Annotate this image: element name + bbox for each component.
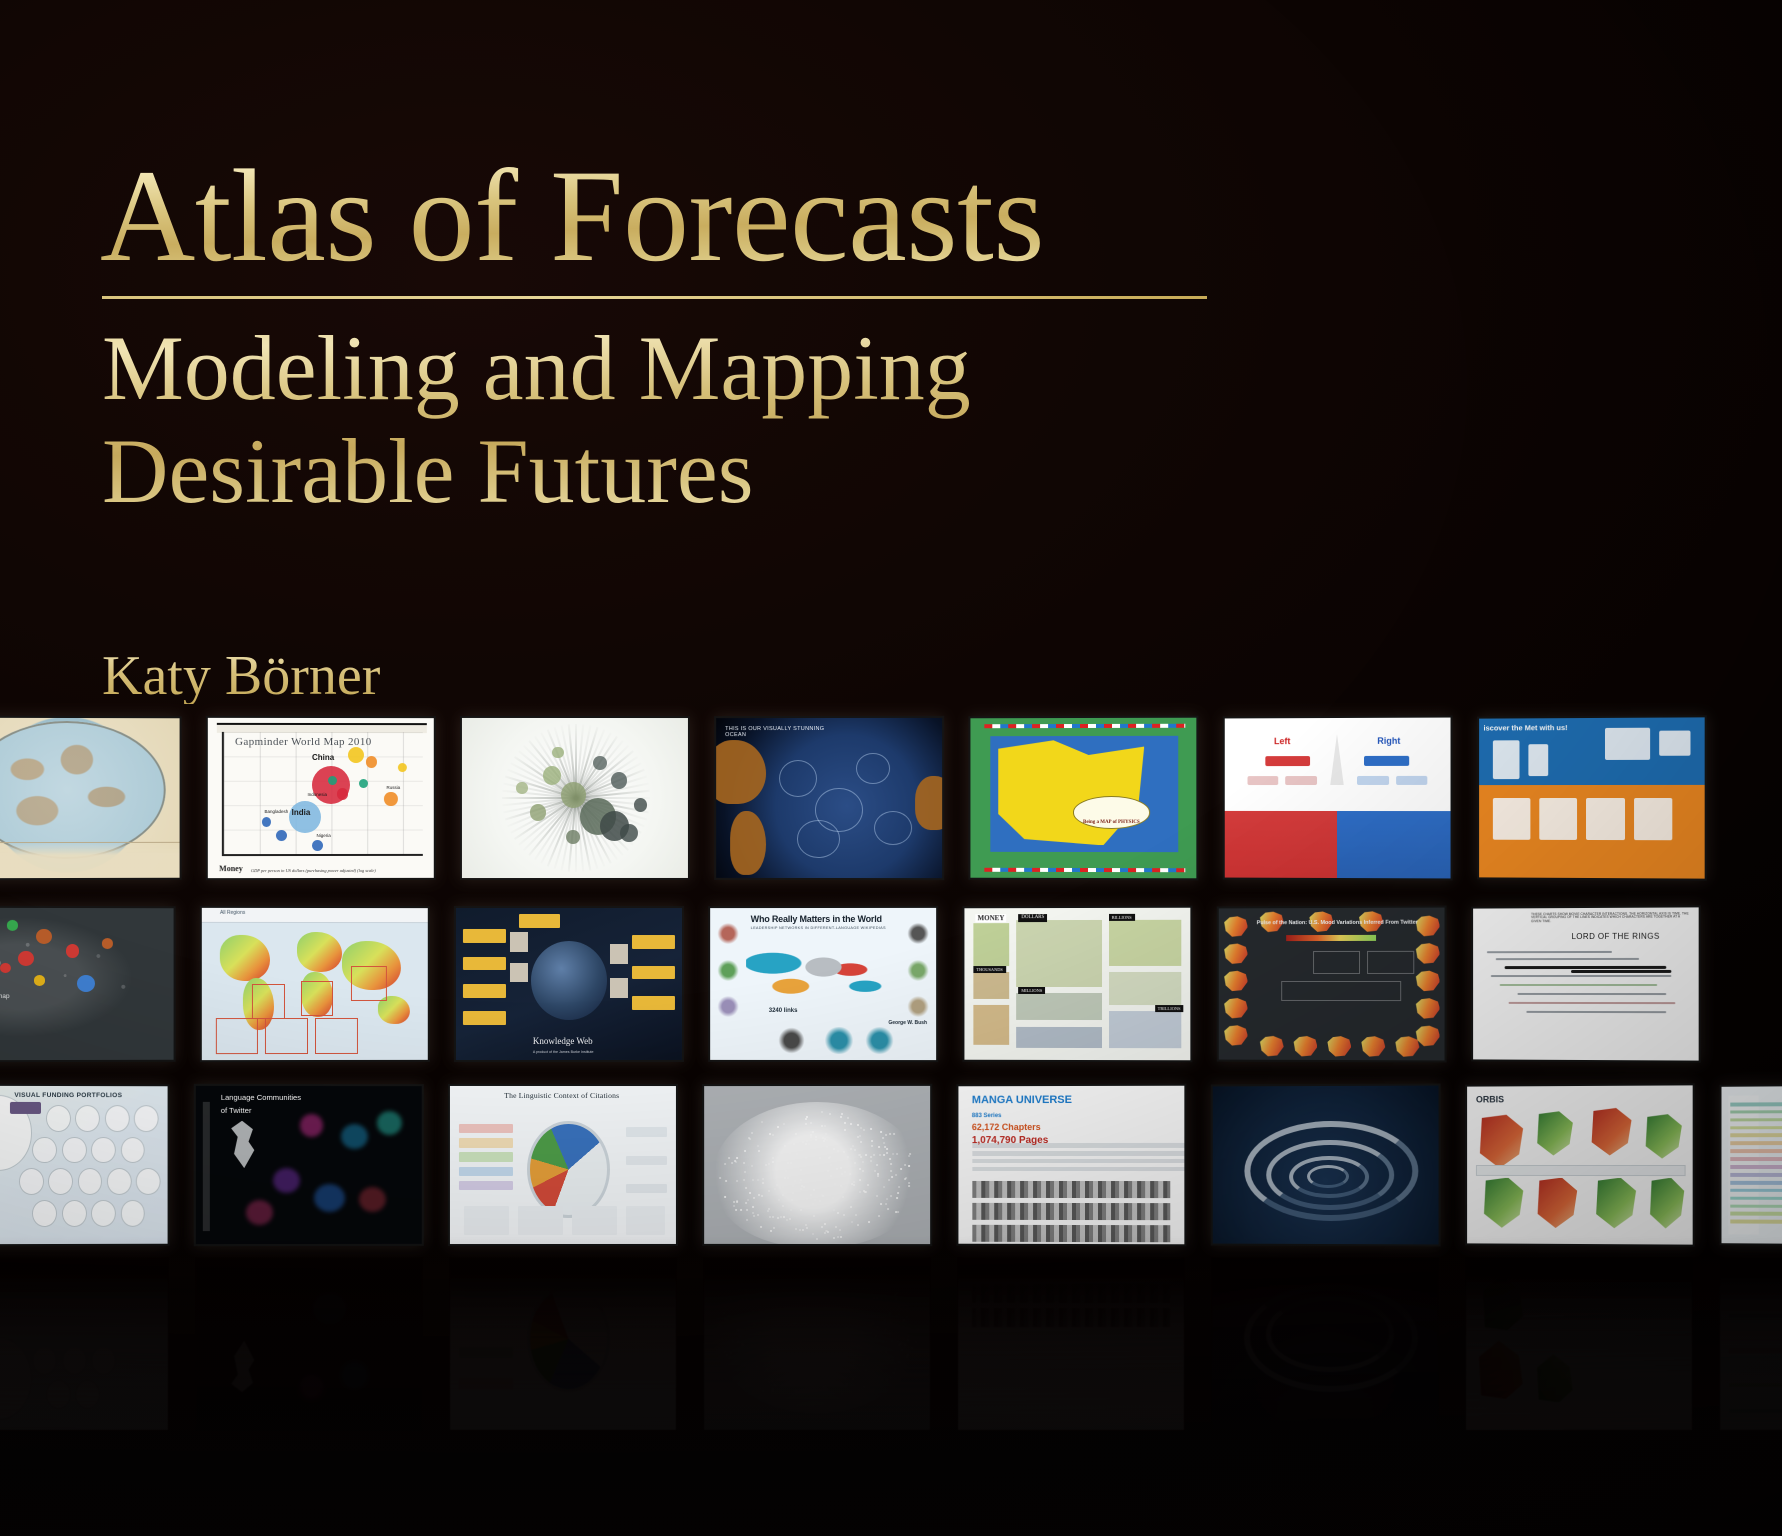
point-cloud-dot (787, 1177, 789, 1179)
thumbnail-language-communities-twitter[interactable]: Language Communities of Twitter (196, 1086, 422, 1258)
point-cloud-dot (846, 1282, 848, 1284)
point-cloud-dot (818, 1311, 820, 1313)
point-cloud-dot (827, 1341, 829, 1343)
point-cloud-dot (770, 1324, 772, 1326)
point-cloud-dot (757, 1145, 759, 1147)
point-cloud-dot (876, 1164, 878, 1166)
point-cloud-dot (809, 1338, 811, 1340)
point-cloud-dot (896, 1197, 898, 1199)
point-cloud-dot (844, 1129, 846, 1131)
thumbnail-radial-hierarchy[interactable] (462, 718, 688, 896)
point-cloud-dot (735, 1360, 737, 1362)
point-cloud-dot (751, 1344, 753, 1346)
point-cloud-dot (724, 1351, 726, 1353)
thumbnail-money-flow[interactable]: MONEY DOLLARS THOUSANDS MILLIONS BILLION… (964, 908, 1190, 1076)
point-cloud-dot (732, 1340, 734, 1342)
point-cloud-dot (849, 1312, 851, 1314)
point-cloud-dot (796, 1153, 798, 1155)
point-cloud-dot (829, 1268, 831, 1270)
point-cloud-dot (883, 1280, 885, 1282)
point-cloud-dot (903, 1319, 905, 1321)
point-cloud-dot (897, 1341, 899, 1343)
point-cloud-dot (825, 1133, 827, 1135)
point-cloud-dot (831, 1270, 833, 1272)
point-cloud-dot (753, 1301, 755, 1303)
thumbnail-manga-universe[interactable]: MANGA UNIVERSE 883 Series 62,172 Chapter… (958, 1086, 1184, 1258)
point-cloud-dot (734, 1160, 736, 1162)
floor-vignette (0, 1236, 1782, 1536)
point-cloud-dot (806, 1198, 808, 1200)
book-cover: Atlas of Forecasts Modeling and Mapping … (0, 0, 1782, 1536)
point-cloud-dot (770, 1230, 772, 1232)
point-cloud-dot (886, 1198, 888, 1200)
point-cloud-dot (870, 1128, 872, 1130)
point-cloud-dot (895, 1174, 897, 1176)
point-cloud-dot (847, 1156, 849, 1158)
point-cloud-dot (746, 1293, 748, 1295)
title-block: Atlas of Forecasts Modeling and Mapping … (96, 150, 1336, 523)
point-cloud-dot (897, 1309, 899, 1311)
ocean-caption: THIS IS OUR VISUALLY STUNNING OCEAN (725, 726, 824, 739)
point-cloud-dot (847, 1369, 849, 1371)
point-cloud-dot (877, 1380, 879, 1382)
point-cloud-dot (769, 1375, 771, 1377)
point-cloud-dot (890, 1170, 892, 1172)
point-cloud-dot (739, 1300, 741, 1302)
point-cloud-dot (880, 1287, 882, 1289)
point-cloud-dot (888, 1357, 890, 1359)
point-cloud-dot (824, 1124, 826, 1126)
point-cloud-dot (757, 1179, 759, 1181)
point-cloud-dot (852, 1378, 854, 1380)
point-cloud-dot (776, 1184, 778, 1186)
linguistic-context-caption: The Linguistic Context of Citations (504, 1092, 619, 1101)
point-cloud-dot (818, 1384, 820, 1386)
point-cloud-dot (859, 1179, 861, 1181)
point-cloud-dot (892, 1359, 894, 1361)
point-cloud-dot (760, 1311, 762, 1313)
point-cloud-dot (799, 1229, 801, 1231)
point-cloud-dot (802, 1277, 804, 1279)
thumbnail-citation-matrix[interactable] (1720, 1086, 1782, 1258)
point-cloud-dot (766, 1369, 768, 1371)
point-cloud-dot (774, 1384, 776, 1386)
point-cloud-dot (758, 1194, 760, 1196)
point-cloud-dot (790, 1162, 792, 1164)
point-cloud-dot (733, 1201, 735, 1203)
point-cloud-dot (861, 1388, 863, 1390)
point-cloud-dot (825, 1306, 827, 1308)
book-title: Atlas of Forecasts (96, 150, 1336, 294)
point-cloud-dot (832, 1197, 834, 1199)
point-cloud-dot (823, 1293, 825, 1295)
point-cloud-dot (745, 1202, 747, 1204)
point-cloud-dot (825, 1230, 827, 1232)
point-cloud-dot (852, 1297, 854, 1299)
point-cloud-dot (783, 1216, 785, 1218)
point-cloud-dot (726, 1319, 728, 1321)
reflection (196, 1258, 422, 1430)
orbis-caption: ORBIS (1476, 1094, 1504, 1104)
point-cloud-dot (762, 1178, 764, 1180)
point-cloud-dot (730, 1352, 732, 1354)
point-cloud-dot (795, 1133, 797, 1135)
point-cloud-dot (725, 1310, 727, 1312)
point-cloud-dot (866, 1358, 868, 1360)
thumbnail-historical-world-map[interactable] (0, 718, 180, 896)
point-cloud-dot (900, 1168, 902, 1170)
point-cloud-dot (733, 1360, 735, 1362)
point-cloud-dot (794, 1322, 796, 1324)
point-cloud-dot (765, 1164, 767, 1166)
point-cloud-dot (846, 1383, 848, 1385)
point-cloud-dot (831, 1305, 833, 1307)
point-cloud-dot (838, 1283, 840, 1285)
point-cloud-dot (884, 1319, 886, 1321)
point-cloud-dot (899, 1343, 901, 1345)
reflection (1720, 1258, 1782, 1430)
point-cloud-dot (778, 1199, 780, 1201)
point-cloud-dot (859, 1135, 861, 1137)
point-cloud-dot (867, 1184, 869, 1186)
gapminder-axis-sublabel: GDP per person in US dollars (purchasing… (251, 867, 376, 872)
point-cloud-dot (826, 1146, 828, 1148)
point-cloud-dot (765, 1273, 767, 1275)
point-cloud-dot (737, 1341, 739, 1343)
point-cloud-dot (776, 1311, 778, 1313)
point-cloud-dot (870, 1156, 872, 1158)
point-cloud-dot (789, 1278, 791, 1280)
point-cloud-dot (833, 1148, 835, 1150)
point-cloud-dot (845, 1284, 847, 1286)
point-cloud-dot (870, 1331, 872, 1333)
radial-node (634, 798, 648, 812)
point-cloud-dot (800, 1188, 802, 1190)
point-cloud-dot (827, 1346, 829, 1348)
point-cloud-dot (833, 1237, 835, 1239)
point-cloud-dot (843, 1151, 845, 1153)
point-cloud-dot (841, 1305, 843, 1307)
thumbnail-gapminder-world-map[interactable]: Gapminder World Map 2010 China India Ind… (208, 718, 434, 896)
point-cloud-dot (761, 1195, 763, 1197)
point-cloud-dot (868, 1324, 870, 1326)
point-cloud-dot (761, 1291, 763, 1293)
author-name: Katy Börner (102, 648, 380, 704)
subtitle-line-1: Modeling and Mapping (102, 317, 1336, 420)
point-cloud-dot (818, 1367, 820, 1369)
point-cloud-dot (759, 1150, 761, 1152)
point-cloud-dot (850, 1318, 852, 1320)
thumbnail-spiral-city-model[interactable] (1212, 1086, 1438, 1258)
point-cloud-dot (826, 1388, 828, 1390)
point-cloud-dot (792, 1185, 794, 1187)
point-cloud-dot (790, 1324, 792, 1326)
point-cloud-dot (906, 1356, 908, 1358)
point-cloud-dot (909, 1153, 911, 1155)
radial-node (530, 804, 546, 820)
point-cloud-dot (751, 1132, 753, 1134)
point-cloud-dot (771, 1390, 773, 1392)
point-cloud-dot (784, 1301, 786, 1303)
point-cloud-dot (782, 1205, 784, 1207)
point-cloud-dot (834, 1183, 836, 1185)
thumbnail-visual-funding-portfolios[interactable]: VISUAL FUNDING PORTFOLIOS (0, 1086, 168, 1258)
point-cloud-dot (801, 1367, 803, 1369)
point-cloud-dot (904, 1164, 906, 1166)
radial-node (543, 766, 561, 785)
point-cloud-dot (885, 1351, 887, 1353)
point-cloud-dot (732, 1363, 734, 1365)
thumbnail-who-really-matters[interactable]: Who Really Matters in the World LEADERSH… (710, 908, 936, 1076)
who-really-matters-subtitle: LEADERSHIP NETWORKS IN DIFFERENT-LANGUAG… (751, 926, 886, 930)
point-cloud-dot (891, 1340, 893, 1342)
point-cloud-dot (804, 1308, 806, 1310)
point-cloud-dot (849, 1346, 851, 1348)
point-cloud-dot (737, 1329, 739, 1331)
point-cloud-dot (806, 1372, 808, 1374)
thumbnail-knowledge-web[interactable]: Knowledge Web A product of the James Bur… (456, 908, 682, 1076)
point-cloud-dot (907, 1335, 909, 1337)
point-cloud-dot (846, 1283, 848, 1285)
point-cloud-dot (737, 1157, 739, 1159)
point-cloud-dot (857, 1124, 859, 1126)
point-cloud-dot (767, 1210, 769, 1212)
point-cloud-dot (911, 1347, 913, 1349)
point-cloud-dot (856, 1267, 858, 1269)
point-cloud-dot (842, 1196, 844, 1198)
point-cloud-dot (823, 1322, 825, 1324)
point-cloud-dot (856, 1315, 858, 1317)
point-cloud-dot (770, 1345, 772, 1347)
knowledge-web-subcaption: A product of the James Burke Institute (533, 1050, 594, 1054)
point-cloud-dot (845, 1278, 847, 1280)
radial-node (593, 756, 607, 770)
point-cloud-dot (765, 1331, 767, 1333)
point-cloud-dot (747, 1199, 749, 1201)
point-cloud-dot (742, 1299, 744, 1301)
point-cloud-dot (907, 1339, 909, 1341)
point-cloud-dot (896, 1292, 898, 1294)
reflection (1466, 1258, 1692, 1430)
point-cloud-dot (825, 1354, 827, 1356)
lotr-title: LORD OF THE RINGS (1571, 932, 1659, 941)
point-cloud-dot (808, 1143, 810, 1145)
point-cloud-dot (772, 1216, 774, 1218)
point-cloud-dot (851, 1221, 853, 1223)
point-cloud-dot (817, 1308, 819, 1310)
point-cloud-dot (872, 1323, 874, 1325)
thumbnail-global-population-heatmap[interactable]: All Regions (202, 908, 428, 1076)
point-cloud-dot (873, 1154, 875, 1156)
point-cloud-dot (803, 1338, 805, 1340)
point-cloud-dot (883, 1154, 885, 1156)
point-cloud-dot (735, 1209, 737, 1211)
point-cloud-dot (815, 1136, 817, 1138)
point-cloud-dot (751, 1340, 753, 1342)
point-cloud-dot (777, 1217, 779, 1219)
point-cloud-dot (762, 1313, 764, 1315)
manga-title: MANGA UNIVERSE (972, 1094, 1072, 1107)
point-cloud-dot (759, 1344, 761, 1346)
point-cloud-dot (886, 1148, 888, 1150)
point-cloud-dot (786, 1289, 788, 1291)
radial-node (566, 830, 580, 844)
point-cloud-dot (885, 1359, 887, 1361)
point-cloud-dot (880, 1350, 882, 1352)
point-cloud-dot (844, 1316, 846, 1318)
point-cloud-dot (865, 1325, 867, 1327)
point-cloud-dot (743, 1179, 745, 1181)
thumbnail-map-of-physics[interactable]: Being a MAP of PHYSICS (970, 718, 1196, 896)
point-cloud-dot (730, 1298, 732, 1300)
reflection (958, 1258, 1184, 1430)
reflection (704, 1258, 930, 1430)
who-really-matters-person: George W. Bush (888, 1021, 927, 1027)
point-cloud-dot (819, 1157, 821, 1159)
point-cloud-dot (861, 1331, 863, 1333)
point-cloud-dot (810, 1131, 812, 1133)
thumbnail-patent-basemap[interactable]: Patent Basemap (0, 908, 174, 1076)
point-cloud-dot (863, 1386, 865, 1388)
point-cloud-dot (889, 1312, 891, 1314)
point-cloud-dot (826, 1139, 828, 1141)
point-cloud-dot (888, 1179, 890, 1181)
point-cloud-dot (849, 1317, 851, 1319)
point-cloud-dot (805, 1123, 807, 1125)
point-cloud-dot (898, 1305, 900, 1307)
point-cloud-dot (758, 1375, 760, 1377)
point-cloud-dot (805, 1118, 807, 1120)
point-cloud-dot (827, 1231, 829, 1233)
point-cloud-dot (883, 1142, 885, 1144)
point-cloud-dot (753, 1197, 755, 1199)
point-cloud-dot (895, 1298, 897, 1300)
point-cloud-dot (876, 1297, 878, 1299)
point-cloud-dot (873, 1388, 875, 1390)
point-cloud-dot (751, 1165, 753, 1167)
thumbnail-linguistic-context-citations[interactable]: The Linguistic Context of Citations (450, 1086, 676, 1258)
point-cloud-dot (772, 1390, 774, 1392)
point-cloud-dot (886, 1379, 888, 1381)
point-cloud-dot (772, 1134, 774, 1136)
thumbnail-point-cloud-sphere[interactable] (704, 1086, 930, 1258)
point-cloud-dot (789, 1217, 791, 1219)
point-cloud-dot (792, 1325, 794, 1327)
point-cloud-dot (821, 1226, 823, 1228)
funding-portfolios-caption: VISUAL FUNDING PORTFOLIOS (14, 1092, 122, 1100)
point-cloud-dot (783, 1266, 785, 1268)
point-cloud-dot (885, 1203, 887, 1205)
point-cloud-dot (833, 1305, 835, 1307)
point-cloud-dot (813, 1215, 815, 1217)
point-cloud-dot (804, 1272, 806, 1274)
point-cloud-dot (833, 1278, 835, 1280)
visualization-gallery: Gapminder World Map 2010 China India Ind… (0, 718, 1782, 1536)
point-cloud-dot (829, 1113, 831, 1115)
point-cloud-dot (766, 1292, 768, 1294)
point-cloud-dot (791, 1199, 793, 1201)
thumbnail-discover-the-met[interactable]: iscover the Met with us! (1478, 718, 1704, 896)
point-cloud-dot (812, 1233, 814, 1235)
point-cloud-dot (783, 1272, 785, 1274)
point-cloud-dot (894, 1293, 896, 1295)
point-cloud-dot (805, 1157, 807, 1159)
point-cloud-dot (868, 1371, 870, 1373)
point-cloud-dot (743, 1162, 745, 1164)
point-cloud-dot (782, 1186, 784, 1188)
point-cloud-dot (863, 1281, 865, 1283)
point-cloud-dot (744, 1171, 746, 1173)
point-cloud-dot (820, 1292, 822, 1294)
point-cloud-dot (749, 1192, 751, 1194)
point-cloud-dot (894, 1368, 896, 1370)
point-cloud-dot (806, 1227, 808, 1229)
point-cloud-dot (898, 1186, 900, 1188)
point-cloud-dot (862, 1170, 864, 1172)
point-cloud-dot (889, 1333, 891, 1335)
point-cloud-dot (857, 1324, 859, 1326)
point-cloud-dot (810, 1194, 812, 1196)
point-cloud-dot (837, 1264, 839, 1266)
point-cloud-dot (881, 1379, 883, 1381)
point-cloud-dot (773, 1227, 775, 1229)
thumbnail-left-right-politics[interactable]: Left Right (1224, 718, 1450, 896)
point-cloud-dot (783, 1123, 785, 1125)
point-cloud-dot (726, 1354, 728, 1356)
thumbnail-pulse-of-the-nation[interactable]: Pulse of the Nation: U.S. Mood Variation… (1218, 908, 1444, 1076)
gallery-row-2: Patent Basemap (0, 908, 1730, 1076)
point-cloud-dot (837, 1284, 839, 1286)
point-cloud-dot (759, 1290, 761, 1292)
point-cloud-dot (860, 1156, 862, 1158)
point-cloud-dot (887, 1208, 889, 1210)
point-cloud-dot (770, 1290, 772, 1292)
point-cloud-dot (844, 1386, 846, 1388)
thumbnail-orbis-choropleth[interactable]: ORBIS (1466, 1086, 1692, 1258)
point-cloud-dot (853, 1181, 855, 1183)
point-cloud-dot (823, 1140, 825, 1142)
point-cloud-dot (839, 1369, 841, 1371)
thumbnail-movie-narrative-charts[interactable]: THESE CHARTS SHOW MOVIE CHARACTER INTERA… (1472, 908, 1698, 1076)
point-cloud-dot (795, 1390, 797, 1392)
point-cloud-dot (769, 1216, 771, 1218)
point-cloud-dot (870, 1348, 872, 1350)
point-cloud-dot (785, 1348, 787, 1350)
point-cloud-dot (833, 1209, 835, 1211)
point-cloud-dot (746, 1209, 748, 1211)
point-cloud-dot (724, 1196, 726, 1198)
point-cloud-dot (803, 1306, 805, 1308)
point-cloud-dot (850, 1123, 852, 1125)
point-cloud-dot (794, 1378, 796, 1380)
point-cloud-dot (777, 1371, 779, 1373)
point-cloud-dot (763, 1299, 765, 1301)
point-cloud-dot (760, 1282, 762, 1284)
thumbnail-perpetual-ocean[interactable]: THIS IS OUR VISUALLY STUNNING OCEAN (716, 718, 942, 896)
point-cloud-dot (875, 1335, 877, 1337)
point-cloud-dot (880, 1203, 882, 1205)
point-cloud-dot (804, 1322, 806, 1324)
point-cloud-dot (889, 1291, 891, 1293)
point-cloud-dot (873, 1297, 875, 1299)
point-cloud-dot (719, 1324, 721, 1326)
point-cloud-dot (781, 1299, 783, 1301)
point-cloud-dot (746, 1219, 748, 1221)
point-cloud-dot (719, 1177, 721, 1179)
point-cloud-dot (736, 1201, 738, 1203)
radial-node (552, 747, 563, 759)
point-cloud-dot (802, 1285, 804, 1287)
